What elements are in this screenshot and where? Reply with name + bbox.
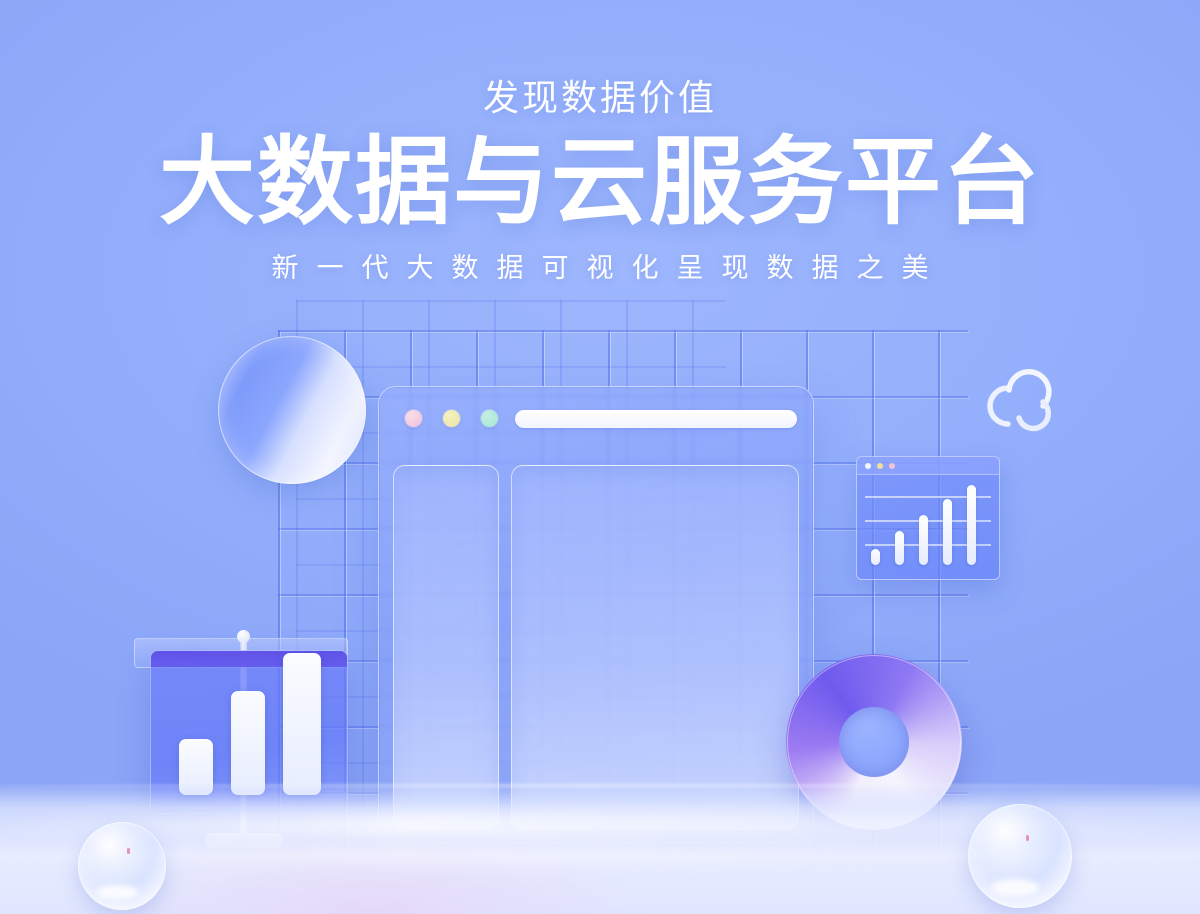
browser-wide-right-panel — [511, 465, 799, 830]
chart-bar — [943, 499, 952, 565]
browser-titlebar — [379, 387, 813, 449]
mini-traffic-light-white-dot[interactable] — [865, 463, 871, 469]
sphere-highlight — [991, 879, 1039, 896]
sphere-pink-reflection — [1026, 835, 1029, 841]
mini-window-titlebar — [857, 457, 999, 475]
chart-bar — [967, 485, 976, 565]
browser-window-mock[interactable] — [378, 386, 814, 843]
page-title: 大数据与云服务平台 — [0, 134, 1200, 232]
traffic-light-mint-dot[interactable] — [481, 410, 498, 427]
glass-disc — [218, 336, 366, 484]
eyebrow-text: 发现数据价值 — [0, 78, 1200, 118]
cloud-icon — [975, 362, 1071, 434]
banner-stage: 发现数据价值 大数据与云服务平台 新一代大数据可视化呈现数据之美 — [0, 0, 1200, 914]
chart-bar — [871, 549, 880, 565]
glass-sphere-right — [968, 804, 1072, 908]
cloud-icon-svg — [975, 362, 1071, 434]
traffic-light-yellow-dot[interactable] — [443, 410, 460, 427]
floor-edge-highlight — [0, 784, 1200, 787]
tagline-text: 新一代大数据可视化呈现数据之美 — [0, 246, 1200, 285]
board-bar — [231, 691, 265, 795]
browser-narrow-left-panel — [393, 465, 499, 830]
chart-bar — [919, 515, 928, 565]
headline-block: 发现数据价值 大数据与云服务平台 新一代大数据可视化呈现数据之美 — [0, 78, 1200, 285]
board-stand-cap — [237, 630, 250, 643]
glass-sphere-left — [78, 822, 166, 910]
address-bar[interactable] — [515, 410, 797, 428]
board-bar — [283, 653, 321, 795]
traffic-light-pink-dot[interactable] — [405, 410, 422, 427]
mini-traffic-light-pink-dot[interactable] — [889, 463, 895, 469]
mini-chart-window[interactable] — [856, 456, 1000, 580]
chart-bar — [895, 531, 904, 565]
sphere-highlight — [97, 885, 137, 899]
mini-window-chart-area — [857, 474, 999, 579]
mini-traffic-light-yellow-dot[interactable] — [877, 463, 883, 469]
sphere-pink-reflection — [127, 848, 130, 854]
